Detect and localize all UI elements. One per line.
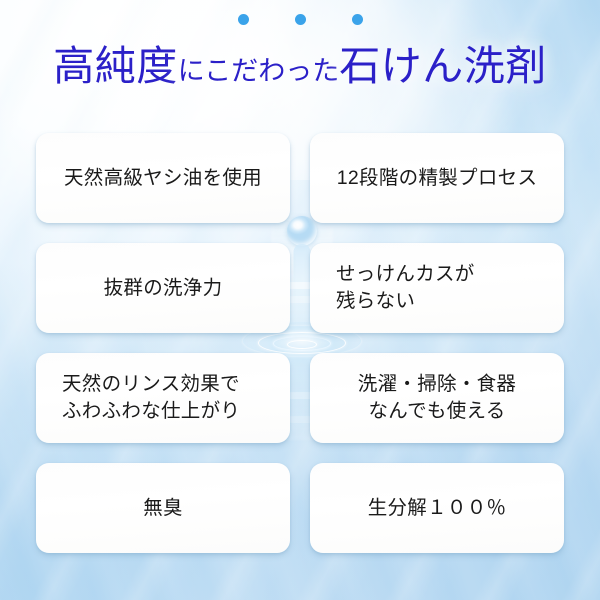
title-segment-connector: にこだわった: [178, 56, 339, 86]
title-segment-highpurity: 高純度: [53, 43, 178, 89]
poster-canvas: 高純度にこだわった石けん洗剤 天然高級ヤシ油を使用 12段階の精製プロセス 抜群…: [0, 0, 600, 600]
feature-card: 天然高級ヤシ油を使用: [36, 133, 290, 223]
feature-card-text: 生分解１００％: [368, 495, 507, 522]
title-line: 高純度にこだわった石けん洗剤: [0, 26, 600, 87]
feature-card-text: せっけんカスが 残らない: [336, 261, 475, 314]
page-title: 高純度にこだわった石けん洗剤: [0, 26, 600, 87]
feature-card-text: 抜群の洗浄力: [104, 275, 223, 302]
feature-card-text: 天然のリンス効果で ふわふわな仕上がり: [62, 371, 240, 424]
feature-card: せっけんカスが 残らない: [310, 243, 564, 333]
feature-card: 12段階の精製プロセス: [310, 133, 564, 223]
feature-card-text: 無臭: [143, 495, 183, 522]
feature-card: 洗濯・掃除・食器 なんでも使える: [310, 353, 564, 443]
feature-card: 天然のリンス効果で ふわふわな仕上がり: [36, 353, 290, 443]
title-dot-icon: [238, 14, 249, 25]
title-segment-soap: 石けん洗剤: [339, 43, 547, 89]
feature-card: 抜群の洗浄力: [36, 243, 290, 333]
feature-card-text: 天然高級ヤシ油を使用: [64, 165, 262, 192]
title-dot-icon: [295, 14, 306, 25]
feature-card: 無臭: [36, 463, 290, 553]
feature-card: 生分解１００％: [310, 463, 564, 553]
feature-card-text: 12段階の精製プロセス: [337, 165, 538, 192]
feature-card-text: 洗濯・掃除・食器 なんでも使える: [358, 371, 516, 424]
title-dot-icon: [352, 14, 363, 25]
